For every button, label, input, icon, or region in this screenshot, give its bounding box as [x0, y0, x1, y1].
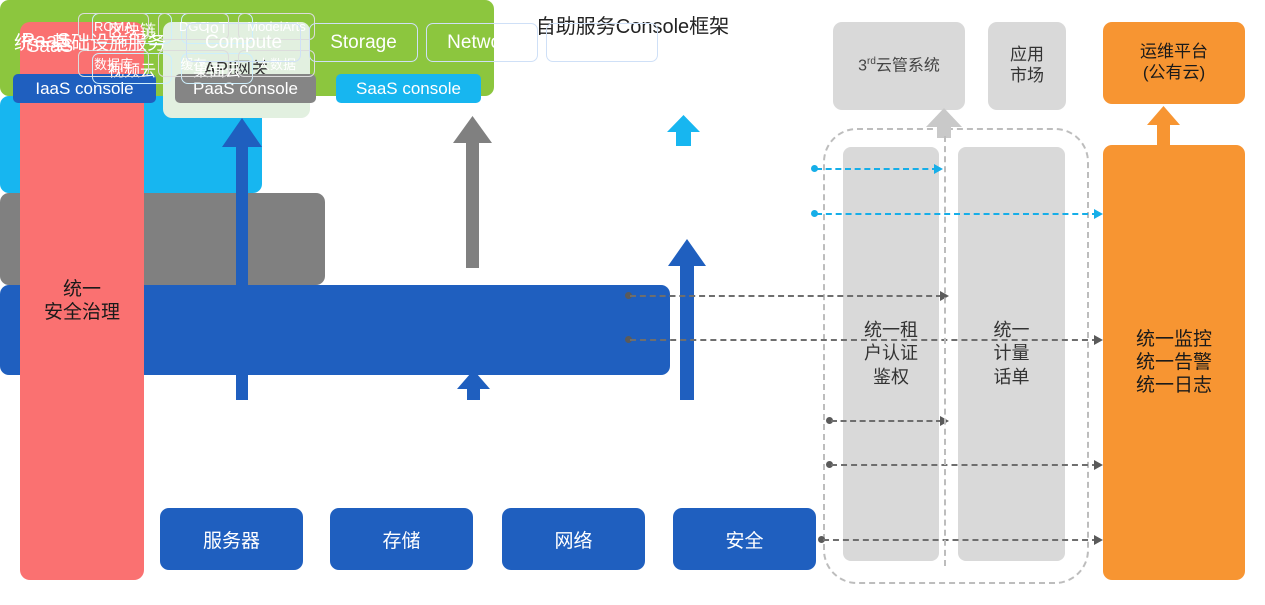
box-resource-storage: 存储 [330, 508, 473, 570]
app-market-line2: 市场 [1010, 66, 1044, 87]
arrowhead-saas-to-auth [934, 164, 943, 174]
dashed-paas-to-auth [630, 295, 942, 297]
arrowhead-paas-to-ops [1094, 335, 1103, 345]
architecture-diagram: 统一 安全治理 API网关 自助服务Console框架 IaaS console… [0, 0, 1265, 605]
dashed-bottom-to-ops [823, 539, 1098, 541]
ops-body-line1: 统一监控 [1136, 328, 1212, 351]
ops-body-line3: 统一日志 [1136, 374, 1212, 397]
arrow-ops-body-to-ops-platform [1147, 106, 1180, 145]
ops-platform-line1: 运维平台 [1140, 42, 1208, 63]
ops-body-line2: 统一告警 [1136, 351, 1212, 374]
column-unified-metering-billing: 统一 计量 话单 [958, 147, 1065, 561]
column-unified-tenant-auth: 统一租 户认证 鉴权 [843, 147, 939, 561]
box-resource-security: 安全 [673, 508, 816, 570]
chip-infra-cce: CCE [546, 23, 658, 62]
arrowhead-infra-to-ops [1094, 460, 1103, 470]
app-market-line1: 应用 [1010, 45, 1044, 66]
panel-unified-monitor-alarm-log: 统一监控 统一告警 统一日志 [1103, 145, 1245, 580]
dashed-saas-to-auth [816, 168, 938, 170]
dashed-paas-to-ops [630, 339, 1098, 341]
box-ops-platform-public-cloud: 运维平台 (公有云) [1103, 22, 1245, 104]
chip-saas-console: SaaS console [336, 74, 481, 103]
auth-line2: 户认证 [864, 342, 918, 365]
arrowhead-saas-to-ops [1094, 209, 1103, 219]
box-resource-server: 服务器 [160, 508, 303, 570]
panel-unified-security-governance: 统一 安全治理 [20, 22, 144, 580]
box-resource-network: 网络 [502, 508, 645, 570]
ops-platform-line2: (公有云) [1140, 63, 1208, 84]
chip-infra-compute: Compute [186, 23, 301, 62]
divider-shared-zone [944, 136, 946, 566]
arrowhead-bottom-to-ops [1094, 535, 1103, 545]
arrow-paas-to-console [453, 116, 492, 268]
arrow-infra-to-saas [668, 239, 706, 400]
box-app-market: 应用 市场 [988, 22, 1066, 110]
box-third-party-cloud-management-system: 3rd云管系统 [833, 22, 965, 110]
billing-line2: 计量 [994, 342, 1030, 365]
auth-line3: 鉴权 [864, 366, 918, 389]
arrow-saas-to-console [667, 115, 700, 146]
dashed-infra-to-auth [831, 420, 942, 422]
chip-infra-network: Network [426, 23, 538, 62]
security-line2: 安全治理 [44, 301, 120, 324]
third-party-label: 3rd云管系统 [858, 56, 940, 76]
infrastructure-label: 统一基础设施服务 [14, 28, 166, 55]
dashed-infra-to-ops [831, 464, 1098, 466]
chip-infra-storage: Storage [309, 23, 418, 62]
billing-line3: 话单 [994, 366, 1030, 389]
dashed-saas-to-ops [816, 213, 1098, 215]
security-line1: 统一 [44, 278, 120, 301]
